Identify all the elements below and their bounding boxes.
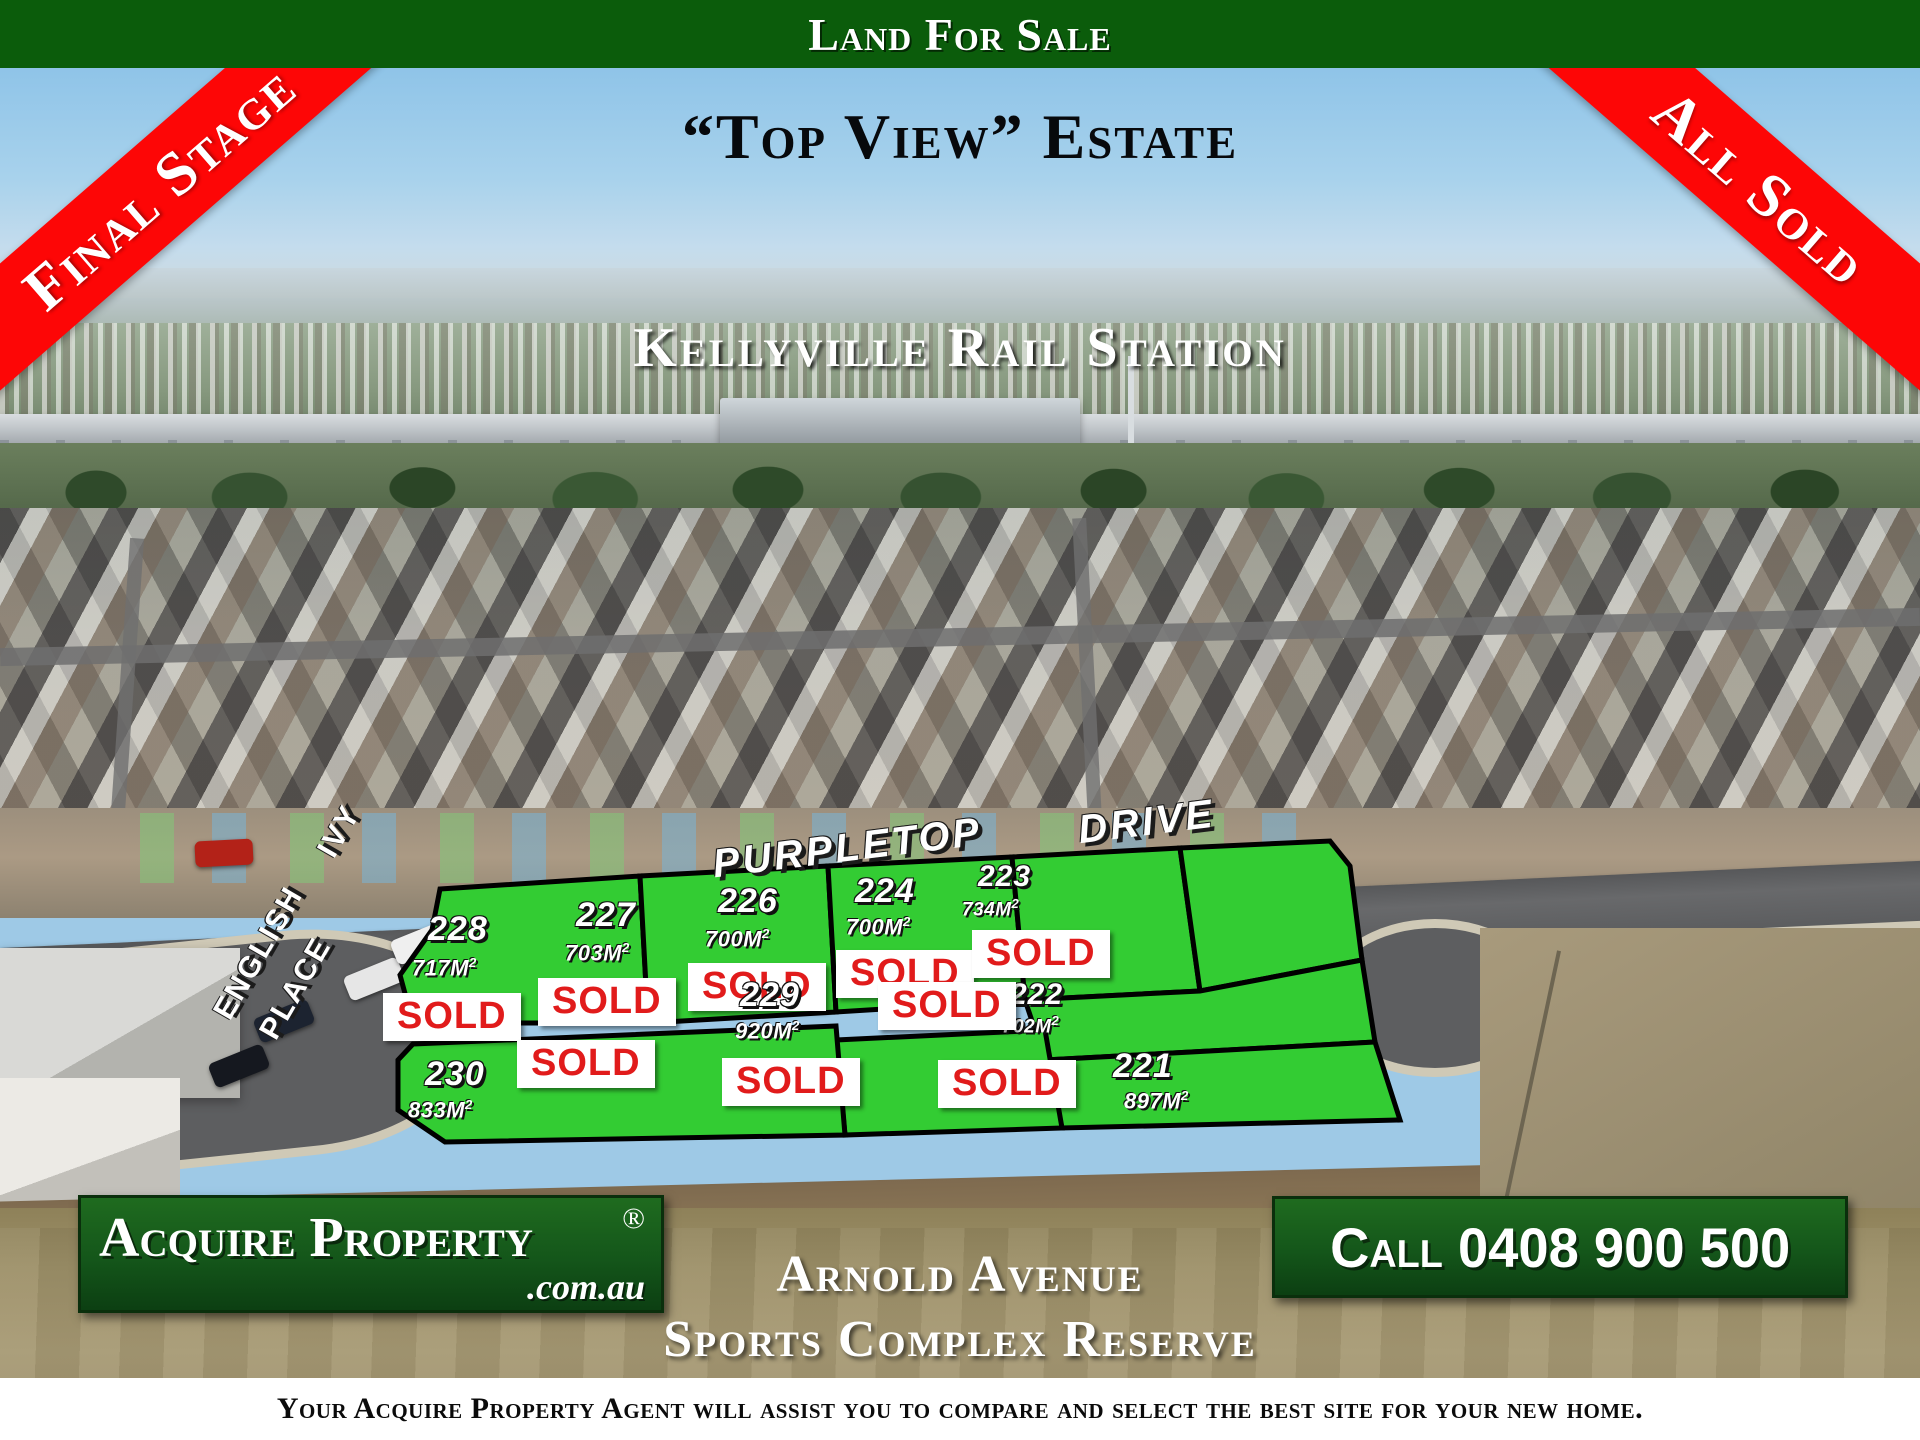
lot-number-223: 223 bbox=[978, 860, 1031, 894]
lot-area-227: 703M2 bbox=[565, 940, 630, 966]
lot-number-222: 222 bbox=[1010, 978, 1063, 1012]
sold-tag-228: SOLD bbox=[383, 993, 521, 1041]
lot-polygon-221[interactable] bbox=[1045, 1042, 1400, 1128]
lot-number-224: 224 bbox=[855, 872, 915, 911]
registered-trademark-icon: ® bbox=[622, 1202, 645, 1236]
rail-station-label: Kellyville Rail Station bbox=[0, 316, 1920, 380]
lot-area-224: 700M2 bbox=[846, 914, 911, 940]
phone-number: Call 0408 900 500 bbox=[1330, 1215, 1790, 1280]
logo-domain: .com.au bbox=[527, 1266, 645, 1308]
lot-number-226: 226 bbox=[718, 882, 778, 921]
footer-text: Your Acquire Property Agent will assist … bbox=[277, 1392, 1643, 1426]
sold-tag-222: SOLD bbox=[878, 982, 1016, 1030]
lot-plan-overlay bbox=[0, 0, 1920, 1310]
sports-complex-label: Sports Complex Reserve bbox=[0, 1310, 1920, 1369]
sold-tag-229: SOLD bbox=[722, 1058, 860, 1106]
lot-number-230: 230 bbox=[425, 1055, 485, 1094]
lot-area-230: 833M2 bbox=[408, 1097, 473, 1123]
lot-number-227: 227 bbox=[576, 896, 636, 935]
sold-tag-227: SOLD bbox=[538, 978, 676, 1026]
lot-area-228: 717M2 bbox=[412, 955, 477, 981]
acquire-property-logo[interactable]: Acquire Property ® .com.au bbox=[78, 1195, 664, 1313]
lot-number-228: 228 bbox=[428, 910, 488, 949]
footer-bar: Your Acquire Property Agent will assist … bbox=[0, 1378, 1920, 1440]
lot-number-221: 221 bbox=[1113, 1047, 1173, 1086]
banner-title: Land For Sale bbox=[808, 8, 1112, 61]
sold-tag-221: SOLD bbox=[938, 1060, 1076, 1108]
call-phone-box[interactable]: Call 0408 900 500 bbox=[1272, 1196, 1848, 1298]
flyer-canvas: Land For Sale bbox=[0, 0, 1920, 1440]
lot-area-229: 920M2 bbox=[735, 1018, 800, 1044]
lot-number-229: 229 bbox=[740, 976, 800, 1015]
logo-text: Acquire Property bbox=[99, 1206, 533, 1270]
sold-tag-223: SOLD bbox=[972, 930, 1110, 978]
lot-area-221: 897M2 bbox=[1124, 1088, 1189, 1114]
sold-tag-230: SOLD bbox=[517, 1040, 655, 1088]
lot-area-223: 734M2 bbox=[962, 896, 1019, 921]
lot-area-226: 700M2 bbox=[705, 926, 770, 952]
top-banner: Land For Sale bbox=[0, 0, 1920, 68]
